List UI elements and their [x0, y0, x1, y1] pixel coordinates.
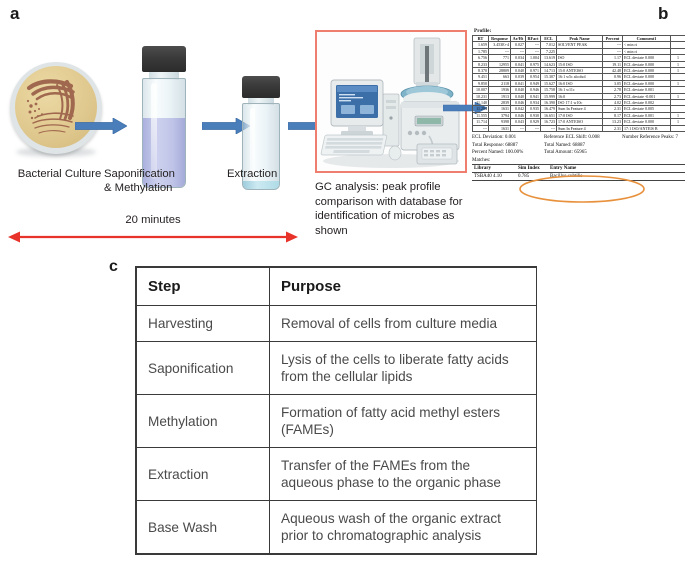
- steps-cell-purpose: Aqueous wash of the organic extract prio…: [270, 501, 537, 554]
- profile-header-row: RT Response Ar/Ht RFact ECL Peak Name Pe…: [473, 36, 685, 42]
- profile-cell: 1631: [489, 125, 511, 131]
- steps-table-row: SaponificationLysis of the cells to libe…: [137, 342, 537, 395]
- steps-table-row: Base WashAqueous wash of the organic ext…: [137, 501, 537, 554]
- total-amount: Total Amount: 65965: [544, 149, 622, 156]
- profile-cell: 2.31: [603, 125, 623, 131]
- profile-cell: Sum In Feature 4: [557, 125, 603, 131]
- col-rfact: RFact: [526, 36, 541, 42]
- profile-cell: ---: [526, 125, 541, 131]
- profile-row: 11.14028390.0460.93416.390ISO 17:1 w10c4…: [473, 100, 685, 106]
- petri-dish-agar: [15, 66, 97, 148]
- gc-analysis-caption: GC analysis: peak profile comparison wit…: [315, 180, 490, 238]
- steps-table-row: ExtractionTransfer of the FAMEs from the…: [137, 448, 537, 501]
- steps-cell-step: Harvesting: [137, 306, 270, 342]
- col-arht: Ar/Ht: [511, 36, 526, 42]
- profile-row: 11.71493980.0430.92916.72317:0 ANTEISO13…: [473, 119, 685, 125]
- reference-ecl-shift: Reference ECL Shift: 0.008: [544, 134, 622, 141]
- profile-summary: ECL Deviation: 0.001 Total Response: 688…: [472, 134, 685, 156]
- steps-cell-step: Extraction: [137, 448, 270, 501]
- col-entry-name: Entry Name: [548, 165, 685, 173]
- col-library: Library: [472, 165, 516, 173]
- summary-col-2: Reference ECL Shift: 0.008 Total Named: …: [544, 134, 622, 156]
- timeline-label: 20 minutes: [8, 214, 298, 226]
- step2-line2: & Methylation: [104, 181, 224, 195]
- steps-table-row: MethylationFormation of fatty acid methy…: [137, 395, 537, 448]
- steps-cell-purpose: Removal of cells from culture media: [270, 306, 537, 342]
- steps-table-row: HarvestingRemoval of cells from culture …: [137, 306, 537, 342]
- matches-table: Library Sim Index Entry Name TSBA40 4.10…: [472, 164, 685, 181]
- step-label-extraction: Extraction: [227, 167, 317, 181]
- profile-cell: ---: [511, 125, 526, 131]
- vial1-gloss: [151, 83, 157, 179]
- process-arrow-1: [75, 118, 127, 134]
- steps-cell-step: Methylation: [137, 395, 270, 448]
- profile-cell: 17:1 ISO/ANTEIS B: [623, 125, 671, 131]
- steps-cell-purpose: Formation of fatty acid methyl esters (F…: [270, 395, 537, 448]
- number-reference-peaks: Number Reference Peaks: 7: [622, 134, 685, 141]
- steps-cell-step: Base Wash: [137, 501, 270, 554]
- summary-col-1: ECL Deviation: 0.001 Total Response: 688…: [472, 134, 544, 156]
- col-sim-index: Sim Index: [516, 165, 548, 173]
- summary-col-3: Number Reference Peaks: 7: [622, 134, 685, 156]
- steps-header-row: Step Purpose: [137, 268, 537, 306]
- step-label-saponification-methylation: Saponification & Methylation: [104, 167, 224, 195]
- panel-c-steps-table: Step Purpose HarvestingRemoval of cells …: [135, 266, 537, 555]
- profile-title: Profile:: [474, 28, 685, 34]
- steps-col-step: Step: [137, 268, 270, 306]
- timeline-20-minutes: 20 minutes: [8, 216, 298, 246]
- percent-named: Percent Named: 100.00%: [472, 149, 544, 156]
- panel-b-gc-report: Profile: RT Response Ar/Ht RFact ECL Pea…: [472, 28, 685, 203]
- matches-header-row: Library Sim Index Entry Name: [472, 165, 685, 173]
- steps-cell-step: Saponification: [137, 342, 270, 395]
- double-arrow-icon: [8, 230, 298, 244]
- vial2-liquid: [243, 181, 279, 189]
- steps-cell-purpose: Lysis of the cells to liberate fatty aci…: [270, 342, 537, 395]
- steps-cell-purpose: Transfer of the FAMEs from the aqueous p…: [270, 448, 537, 501]
- profile-row: 11.29416310.0420.93516.479Sum In Feature…: [473, 106, 685, 112]
- step2-line1: Saponification: [104, 167, 224, 181]
- profile-cell: ---: [541, 125, 557, 131]
- profile-row: ---1631---------Sum In Feature 42.3117:1…: [473, 125, 685, 131]
- panel-label-c: c: [109, 258, 118, 276]
- bacterial-streaks-icon: [15, 66, 97, 148]
- matches-cell: 0.785: [516, 173, 548, 181]
- profile-cell: ---: [473, 125, 489, 131]
- total-named: Total Named: 68887: [544, 142, 622, 149]
- matches-title: Matches:: [472, 158, 685, 163]
- steps-table: Step Purpose HarvestingRemoval of cells …: [136, 267, 537, 554]
- vial1-cap: [142, 46, 186, 72]
- col-response: Response: [489, 36, 511, 42]
- profile-row: 9.4516630.0390.95415.30716:1 w5c alcohol…: [473, 74, 685, 80]
- profile-row: 8.370288090.0400.97114.71315:0 ANTEISO42…: [473, 68, 685, 74]
- panel-label-b: b: [658, 4, 668, 24]
- step-label-bacterial-culture: Bacterial Culture: [2, 167, 117, 181]
- figure-root: a b c: [0, 0, 685, 575]
- ecl-deviation: ECL Deviation: 0.001: [472, 134, 544, 141]
- steps-col-purpose: Purpose: [270, 268, 537, 306]
- matches-row: TSBA40 4.100.785Bacillus-subtilis: [472, 173, 685, 181]
- matches-cell: Bacillus-subtilis: [548, 173, 685, 181]
- petri-dish-icon: [10, 62, 102, 154]
- profile-table: RT Response Ar/Ht RFact ECL Peak Name Pe…: [472, 35, 685, 132]
- total-response: Total Response: 68887: [472, 142, 544, 149]
- matches-cell: TSBA40 4.10: [472, 173, 516, 181]
- profile-cell: [671, 125, 685, 131]
- vial2-cap: [242, 76, 280, 98]
